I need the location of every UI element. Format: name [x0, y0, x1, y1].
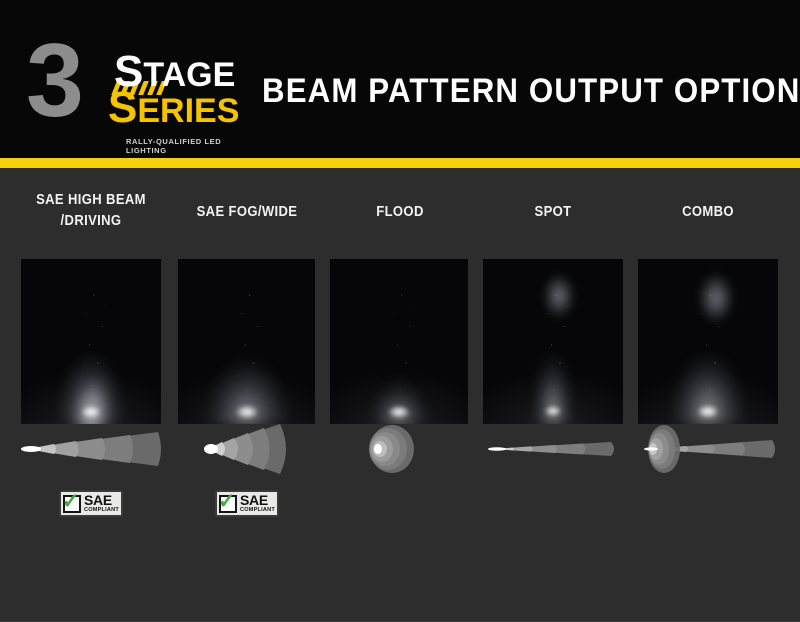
- sae-badge-title: SAE: [84, 493, 112, 507]
- sae-badge-subtitle: COMPLIANT: [240, 508, 275, 514]
- column-spot: SPOT: [483, 168, 623, 622]
- sae-badge-subtitle: COMPLIANT: [84, 508, 119, 514]
- beam-photo: [178, 259, 315, 424]
- column-label: SAE FOG/WIDE: [183, 202, 311, 223]
- pattern-columns: SAE HIGH BEAM /DRIVING: [0, 168, 800, 622]
- column-sae-high-beam-driving: SAE HIGH BEAM /DRIVING: [18, 168, 164, 622]
- beam-shape-svg: [330, 418, 470, 480]
- column-label-line2: /DRIVING: [61, 213, 122, 229]
- check-box-icon: ✓: [63, 495, 81, 513]
- beam-shape-svg: [18, 418, 164, 480]
- column-label-line1: SAE HIGH BEAM: [36, 192, 146, 208]
- column-label-line1: COMBO: [682, 204, 734, 220]
- checkmark-icon: ✓: [62, 491, 80, 512]
- beam-shape-diagram: [18, 418, 164, 480]
- page-title: BEAM PATTERN OUTPUT OPTIONS: [262, 74, 748, 108]
- check-box-icon: ✓: [219, 495, 237, 513]
- column-flood: FLOOD: [330, 168, 470, 622]
- beam-pattern-infographic: 3 STAGE SERIES RALLY-QUALIFIED LED LIGHT…: [0, 0, 800, 622]
- checkmark-icon: ✓: [218, 491, 236, 512]
- column-label: SPOT: [490, 202, 616, 223]
- beam-photo: [21, 259, 161, 424]
- logo-word-series: SERIES: [108, 91, 239, 128]
- column-label-line1: FLOOD: [376, 204, 423, 220]
- brand-logo: 3 STAGE SERIES RALLY-QUALIFIED LED LIGHT…: [26, 33, 241, 129]
- logo-tagline: RALLY-QUALIFIED LED LIGHTING: [126, 137, 241, 155]
- logo-stage-rest: TAGE: [143, 56, 235, 94]
- accent-divider: [0, 158, 800, 168]
- beam-photo: [638, 259, 778, 424]
- beam-shape-svg: [483, 418, 623, 480]
- beam-shape-diagram: [176, 418, 318, 480]
- beam-shape-svg: [176, 418, 318, 480]
- beam-shape-diagram: [330, 418, 470, 480]
- sae-badge-title: SAE: [240, 493, 268, 507]
- logo-series-initial: S: [108, 83, 137, 132]
- beam-shape-diagram: [638, 418, 778, 480]
- sae-compliant-badge: ✓ SAE COMPLIANT: [59, 490, 123, 517]
- beam-photo: [483, 259, 623, 424]
- header-bar: 3 STAGE SERIES RALLY-QUALIFIED LED LIGHT…: [0, 0, 800, 158]
- column-label-line1: SPOT: [535, 204, 572, 220]
- beam-shape-svg: [638, 418, 788, 480]
- column-label-line1: SAE FOG/WIDE: [197, 204, 298, 220]
- column-sae-fog-wide: SAE FOG/WIDE ✓: [176, 168, 318, 622]
- column-label: FLOOD: [337, 202, 463, 223]
- column-label: COMBO: [645, 202, 771, 223]
- sae-compliant-badge: ✓ SAE COMPLIANT: [215, 490, 279, 517]
- column-label: SAE HIGH BEAM /DRIVING: [25, 190, 156, 232]
- beam-shape-diagram: [483, 418, 623, 480]
- logo-numeral: 3: [26, 29, 78, 133]
- column-combo: COMBO: [638, 168, 778, 622]
- logo-series-rest: ERIES: [137, 92, 239, 130]
- beam-photo: [330, 259, 468, 424]
